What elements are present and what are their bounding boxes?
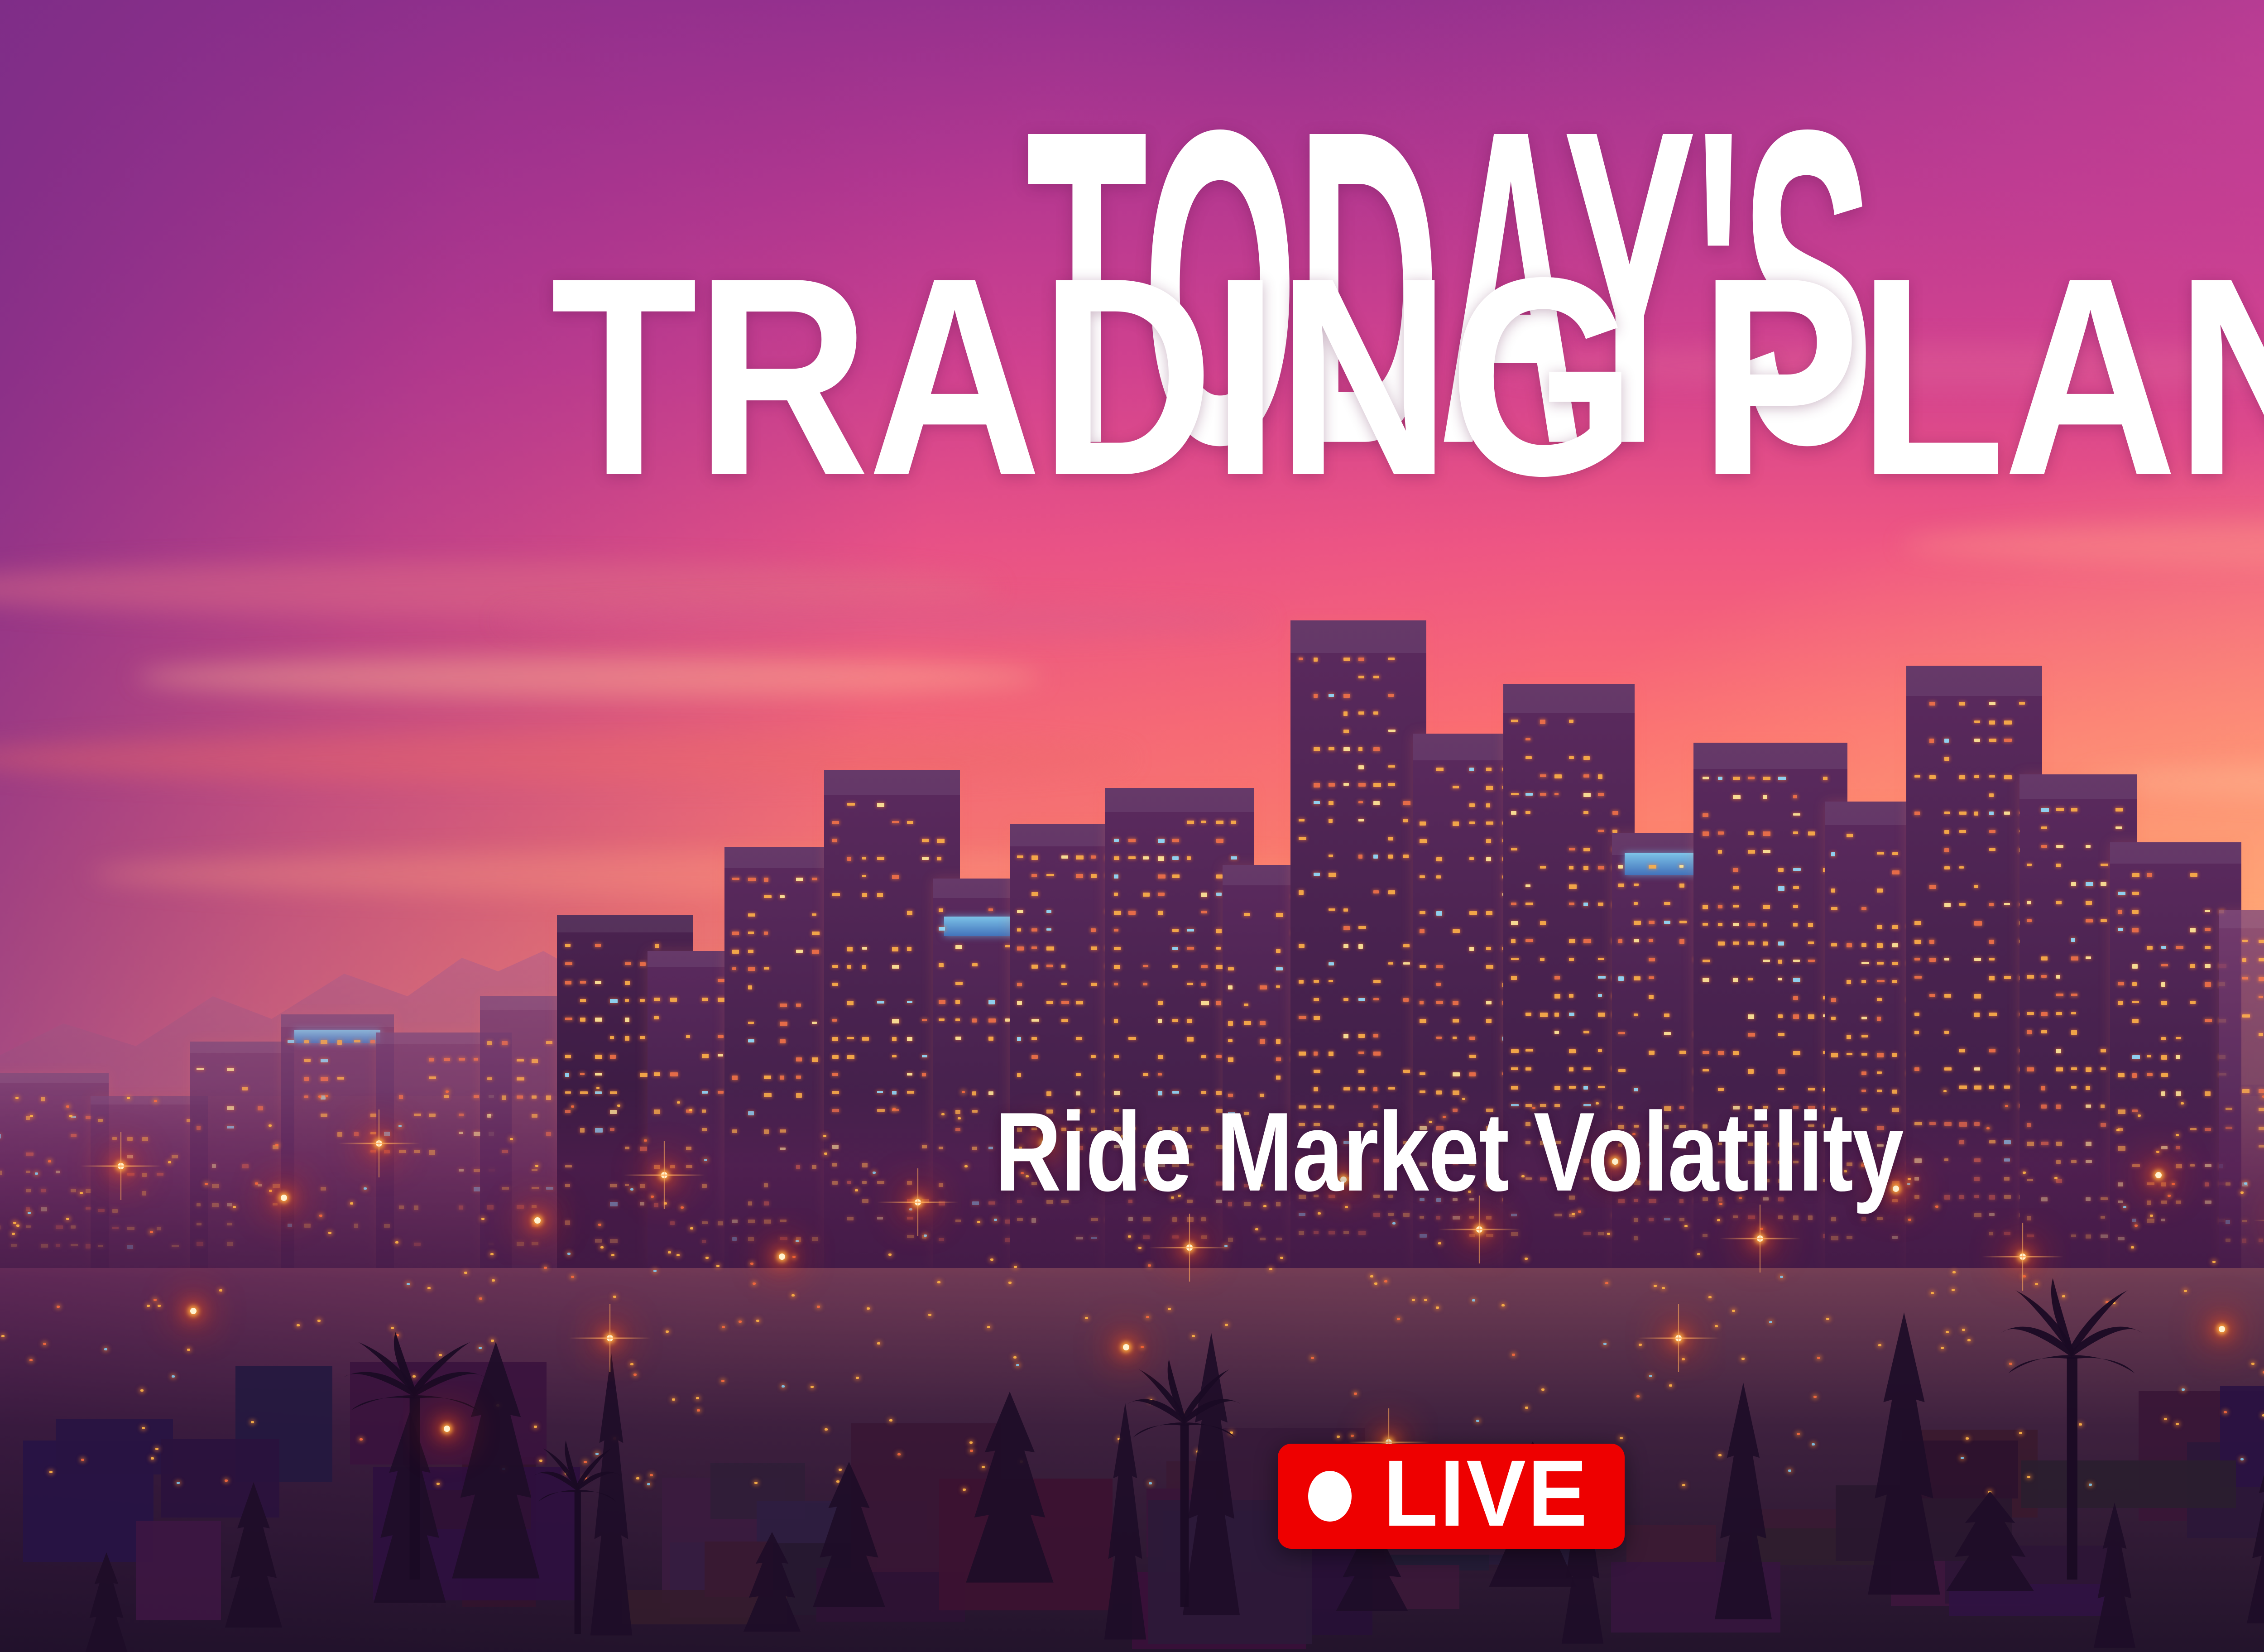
building-window-light	[877, 1001, 884, 1004]
building-window-light	[1314, 747, 1320, 751]
building-window-light	[1525, 884, 1530, 887]
building-window-light	[2205, 1019, 2212, 1023]
building-window-light	[1114, 839, 1119, 842]
distant-city-light	[1008, 1282, 1012, 1284]
building-window-light	[1201, 965, 1207, 968]
distant-city-light	[1639, 1344, 1642, 1346]
building-window-light	[1329, 873, 1336, 877]
distant-city-light	[13, 1222, 16, 1224]
building-window-light	[1486, 821, 1493, 825]
building-window-light	[1420, 839, 1427, 843]
building-window-light	[1733, 978, 1738, 982]
building-window-light	[892, 1019, 899, 1023]
building-rooftop	[557, 915, 693, 932]
distant-city-light	[153, 1299, 157, 1301]
building-window-light	[1158, 1001, 1163, 1005]
building-window-light	[1143, 893, 1150, 896]
building-window-light	[2027, 1030, 2032, 1034]
building-window-light	[1031, 1055, 1037, 1059]
distant-city-light	[1962, 1329, 1965, 1331]
building-window-light	[1373, 747, 1380, 751]
building-window-light	[1076, 1001, 1083, 1004]
building-window-light	[892, 875, 899, 879]
building-window-light	[1486, 786, 1493, 790]
building-window-light	[1733, 868, 1738, 871]
building-window-light	[1831, 943, 1837, 946]
building-window-light	[1244, 1004, 1248, 1007]
building-window-light	[2118, 892, 2125, 896]
building-window-light	[892, 947, 898, 951]
building-window-light	[1046, 910, 1051, 913]
foreground-tree	[2241, 1432, 2264, 1641]
building-window-light	[1861, 980, 1866, 983]
building-window-light	[1974, 1067, 1980, 1071]
building-window-light	[796, 950, 803, 953]
building-window-light	[718, 1035, 724, 1038]
building-window-light	[1143, 1073, 1148, 1076]
building-window-light	[1959, 903, 1966, 906]
building-window-light	[1831, 888, 1835, 892]
distant-city-light	[867, 1307, 870, 1310]
distant-city-light	[2251, 1363, 2254, 1365]
poster-canvas: TODAY'S TRADING PLAN Ride Market Volatil…	[0, 0, 2264, 1652]
building-window-light	[2027, 1067, 2034, 1071]
building-window-light	[1158, 911, 1163, 915]
building-window-light	[847, 1037, 854, 1039]
building-window-light	[1031, 946, 1037, 949]
building-window-light	[1793, 905, 1798, 908]
building-window-light	[1540, 1013, 1547, 1017]
distant-city-light	[43, 1343, 46, 1345]
building-window-light	[1831, 907, 1837, 911]
building-window-light	[1892, 980, 1898, 983]
building-window-light	[2027, 901, 2032, 905]
building-window-light	[939, 927, 945, 931]
building-window-light	[1114, 856, 1120, 860]
building-window-light	[1778, 886, 1784, 891]
street-lamp-glow	[190, 1308, 197, 1314]
building-window-light	[955, 1018, 960, 1022]
building-window-light	[1618, 1032, 1625, 1034]
building-window-light	[640, 999, 645, 1002]
building-window-light	[939, 1018, 945, 1021]
building-window-light	[1583, 793, 1591, 797]
distant-city-light	[721, 1380, 724, 1382]
building-window-light	[1091, 855, 1096, 858]
building-window-light	[1583, 811, 1588, 814]
building-window-light	[748, 913, 755, 917]
distant-city-light	[937, 1281, 940, 1283]
distant-city-light	[2176, 1423, 2179, 1425]
building-window-light	[955, 1000, 960, 1004]
distant-city-light	[147, 1305, 150, 1307]
building-window-light	[1314, 1052, 1318, 1056]
building-window-light	[718, 979, 725, 981]
building-window-light	[2132, 982, 2137, 986]
distant-city-light	[1525, 1258, 1528, 1260]
building-window-light	[1511, 811, 1516, 815]
building-window-light	[1076, 855, 1084, 860]
building-window-light	[2132, 964, 2138, 969]
building-window-light	[1436, 1001, 1443, 1004]
building-window-light	[1778, 777, 1786, 780]
building-window-light	[1877, 1017, 1881, 1021]
building-window-light	[2086, 956, 2091, 959]
building-window-light	[1228, 985, 1233, 990]
building-window-light	[796, 1076, 801, 1079]
building-window-light	[1420, 911, 1425, 914]
building-window-light	[1231, 821, 1236, 824]
building-window-light	[1793, 996, 1799, 1000]
subtitle-text: Ride Market Volatility	[995, 1087, 1903, 1216]
building-window-light	[1569, 903, 1574, 905]
distant-city-light	[81, 1459, 84, 1461]
building-window-light	[1974, 812, 1978, 815]
building-window-light	[1201, 893, 1207, 897]
building-window-light	[2176, 1037, 2181, 1039]
building-window-light	[1793, 813, 1800, 816]
building-window-light	[1017, 1037, 1021, 1042]
building-window-light	[1877, 925, 1882, 929]
building-window-light	[1540, 958, 1545, 961]
building-window-light	[565, 981, 571, 984]
distant-city-light	[598, 1224, 601, 1226]
distant-city-light	[1741, 1358, 1745, 1360]
building-window-light	[1329, 908, 1335, 911]
building-window-light	[1748, 1069, 1754, 1074]
building-window-light	[2161, 982, 2165, 986]
building-window-light	[2132, 873, 2139, 877]
building-window-light	[1554, 994, 1560, 998]
building-window-light	[487, 1041, 492, 1046]
building-window-light	[1314, 1016, 1320, 1020]
distant-city-light	[407, 1283, 410, 1285]
building-window-light	[1276, 1039, 1281, 1044]
subtitle: Ride Market Volatility	[0, 1087, 2264, 1216]
building-window-light	[1031, 1019, 1039, 1022]
building-window-light	[640, 962, 646, 966]
building-window-light	[2086, 919, 2092, 923]
building-window-light	[939, 908, 943, 912]
building-window-light	[748, 967, 755, 971]
building-window-light	[1733, 795, 1741, 799]
building-window-light	[1793, 886, 1799, 888]
distant-city-light	[1424, 1299, 1427, 1301]
building-window-light	[304, 1077, 309, 1081]
building-window-light	[1114, 947, 1121, 950]
building-window-light	[1114, 893, 1118, 896]
distant-city-light	[750, 1263, 753, 1265]
building-window-light	[1974, 775, 1979, 778]
building-window-light	[670, 1072, 678, 1076]
building-window-light	[922, 839, 929, 842]
building-window-light	[1403, 1070, 1410, 1073]
building-window-light	[2101, 1067, 2106, 1070]
building-window-light	[1959, 812, 1967, 815]
street-lamp-glow	[1186, 1244, 1193, 1251]
building-window-light	[847, 947, 853, 951]
building-window-light	[718, 998, 724, 1001]
distant-city-light	[1662, 1287, 1665, 1289]
building-window-light	[1989, 720, 1995, 725]
foreground-tree	[1709, 1383, 1777, 1641]
building-window-light	[877, 803, 884, 807]
building-window-light	[1511, 793, 1519, 795]
building-window-light	[1634, 921, 1641, 925]
building-window-light	[862, 857, 866, 860]
building-window-light	[1403, 801, 1410, 805]
distant-city-light	[672, 1398, 675, 1401]
street-lamp-glow	[444, 1426, 450, 1432]
building-window-light	[1453, 929, 1459, 933]
distant-city-light	[251, 1421, 254, 1423]
building-window-light	[1733, 941, 1739, 945]
building-window-light	[1944, 739, 1949, 743]
live-badge[interactable]: LIVE	[1278, 1444, 1625, 1549]
distant-city-light	[395, 1241, 398, 1244]
building-window-light	[654, 998, 660, 1001]
distant-city-light	[1607, 1233, 1610, 1235]
building-window-light	[1554, 793, 1559, 795]
building-window-light	[1299, 980, 1304, 984]
building-window-light	[1598, 1049, 1602, 1052]
building-window-light	[1201, 983, 1206, 986]
distant-city-light	[187, 1349, 190, 1351]
distant-city-light	[1397, 1318, 1400, 1320]
distant-city-light	[1961, 1457, 1964, 1459]
building-window-light	[2071, 994, 2078, 997]
palm-tree	[344, 1330, 484, 1580]
building-window-light	[1420, 929, 1425, 934]
building-window-light	[1388, 694, 1394, 697]
building-window-light	[1748, 831, 1754, 835]
building-window-light	[565, 1055, 571, 1059]
building-window-light	[2161, 1055, 2167, 1060]
building-window-light	[1554, 774, 1562, 778]
live-badge-label: LIVE	[1383, 1446, 1589, 1541]
building-window-light	[1914, 1031, 1919, 1034]
building-window-light	[1329, 1052, 1333, 1056]
building-window-light	[1244, 1021, 1251, 1024]
building-window-light	[1343, 1034, 1348, 1038]
palm-tree	[1127, 1358, 1241, 1607]
building-window-light	[988, 1037, 993, 1041]
building-window-light	[1718, 850, 1722, 854]
distant-city-light	[1649, 1375, 1652, 1377]
building-window-light	[1187, 856, 1191, 860]
building-window-light	[1091, 1055, 1096, 1058]
distant-city-light	[1014, 1266, 1017, 1268]
building-window-light	[1158, 893, 1165, 896]
building-window-light	[2118, 1001, 2122, 1005]
building-window-light	[2161, 964, 2168, 966]
building-window-light	[1299, 837, 1306, 840]
building-window-light	[2242, 1014, 2250, 1018]
building-window-light	[444, 1058, 450, 1061]
distant-city-light	[297, 1324, 300, 1326]
building-window-light	[1299, 658, 1303, 660]
distant-city-light	[977, 1221, 980, 1223]
building-window-light	[1329, 747, 1334, 750]
building-window-light	[2259, 977, 2264, 981]
distant-city-light	[225, 1479, 228, 1482]
building-window-light	[1388, 730, 1396, 732]
building-window-light	[2132, 892, 2139, 895]
building-window-light	[2242, 977, 2249, 979]
building-window-light	[1486, 911, 1492, 915]
distant-city-light	[2184, 1290, 2187, 1292]
building-window-light	[1974, 720, 1980, 723]
building-window-light	[580, 981, 586, 984]
building-window-light	[1808, 941, 1813, 944]
building-window-light	[1201, 1001, 1209, 1005]
foreground-tree	[738, 1532, 806, 1641]
building-window-light	[2190, 964, 2195, 968]
building-window-light	[1525, 903, 1533, 905]
building-rooftop	[0, 1073, 109, 1083]
distant-city-light	[1148, 1264, 1151, 1267]
street-lamp-glow	[2019, 1253, 2026, 1260]
building-window-light	[1793, 795, 1798, 798]
building-window-light	[1388, 962, 1393, 965]
foreground-building	[56, 1419, 173, 1474]
distant-city-light	[676, 1254, 680, 1256]
building-window-light	[907, 1037, 912, 1042]
building-window-light	[1061, 855, 1068, 858]
building-window-light	[1486, 947, 1492, 950]
building-window-light	[1469, 1055, 1476, 1058]
building-window-light	[654, 1072, 660, 1076]
distant-city-light	[1438, 1242, 1441, 1244]
building-window-light	[1664, 1032, 1671, 1035]
building-window-light	[1373, 711, 1378, 715]
distant-city-light	[716, 1265, 719, 1267]
building-window-light	[1017, 1001, 1022, 1005]
building-window-light	[2041, 975, 2046, 978]
building-window-light	[1299, 890, 1304, 895]
building-window-light	[1388, 855, 1393, 858]
building-window-light	[1343, 783, 1349, 786]
building-window-light	[1525, 811, 1530, 814]
distant-city-light	[1311, 1357, 1314, 1359]
building-window-light	[1763, 831, 1770, 836]
building-rooftop	[1105, 788, 1254, 812]
building-window-light	[1703, 831, 1708, 836]
building-window-light	[1974, 739, 1980, 742]
building-window-light	[1358, 819, 1364, 821]
building-window-light	[907, 821, 913, 824]
building-window-light	[1343, 926, 1350, 930]
distant-city-light	[1085, 1317, 1088, 1319]
building-window-light	[1128, 856, 1136, 859]
building-window-light	[1540, 866, 1546, 868]
distant-city-light	[668, 1251, 671, 1253]
distant-city-light	[613, 1296, 616, 1298]
building-window-light	[1187, 947, 1194, 950]
building-window-light	[1847, 834, 1853, 837]
distant-city-light	[782, 1385, 785, 1388]
building-window-light	[1618, 976, 1624, 981]
building-window-light	[812, 950, 819, 954]
building-window-light	[2004, 903, 2010, 905]
building-window-light	[1525, 1013, 1531, 1016]
building-window-light	[1453, 1019, 1459, 1023]
building-window-light	[1091, 983, 1097, 986]
building-window-light	[1929, 702, 1935, 706]
building-window-light	[1892, 852, 1899, 855]
building-window-light	[610, 999, 618, 1003]
building-window-light	[565, 1018, 572, 1020]
street-lamp-glow	[534, 1217, 541, 1224]
distant-city-light	[792, 1256, 796, 1258]
building-window-light	[1540, 774, 1546, 777]
building-window-light	[1569, 1067, 1573, 1071]
building-window-light	[1703, 1051, 1709, 1054]
building-window-light	[640, 1073, 648, 1077]
distant-city-light	[567, 1253, 571, 1255]
building-rooftop	[824, 770, 960, 795]
distant-city-light	[1769, 1321, 1772, 1323]
building-window-light	[1989, 739, 1996, 742]
building-window-light	[1486, 965, 1493, 969]
building-window-light	[565, 962, 572, 965]
building-window-light	[972, 963, 978, 966]
building-window-light	[1703, 1069, 1709, 1071]
building-window-light	[937, 839, 945, 843]
building-window-light	[764, 895, 772, 898]
distant-city-light	[1280, 1257, 1283, 1259]
building-window-light	[1649, 976, 1654, 979]
building-window-light	[1664, 921, 1670, 924]
building-window-light	[1158, 856, 1164, 861]
building-window-light	[1989, 976, 1995, 980]
building-window-light	[625, 962, 631, 965]
building-window-light	[1778, 960, 1782, 964]
building-window-light	[2205, 928, 2211, 931]
distant-city-light	[1472, 1299, 1475, 1301]
building-rooftop	[281, 1014, 394, 1027]
building-window-light	[1017, 910, 1023, 913]
building-window-light	[1664, 902, 1670, 905]
distant-city-light	[492, 1279, 495, 1282]
building-window-light	[1634, 1013, 1638, 1016]
building-window-light	[1453, 786, 1459, 788]
building-window-light	[1373, 676, 1379, 678]
building-rooftop	[2110, 842, 2241, 864]
building-window-light	[732, 1076, 738, 1080]
building-window-light	[1091, 928, 1096, 932]
building-window-light	[1733, 886, 1739, 889]
building-window-light	[1974, 1013, 1980, 1017]
building-window-light	[595, 1073, 602, 1076]
distant-city-light	[1967, 1339, 1971, 1341]
building-window-light	[907, 1001, 912, 1003]
building-window-light	[1231, 856, 1237, 860]
building-window-light	[1158, 1055, 1163, 1060]
building-window-light	[1453, 1001, 1458, 1005]
distant-city-light	[2224, 1411, 2227, 1413]
building-window-light	[1959, 1049, 1965, 1052]
building-window-light	[1486, 857, 1492, 861]
building-window-light	[487, 1077, 492, 1080]
distant-city-light	[1374, 1282, 1377, 1285]
building-window-light	[1358, 1070, 1364, 1073]
building-window-light	[1403, 944, 1410, 947]
building-window-light	[1403, 855, 1409, 858]
distant-city-light	[987, 1326, 990, 1328]
building-window-light	[517, 1077, 524, 1081]
building-window-light	[780, 1022, 787, 1026]
